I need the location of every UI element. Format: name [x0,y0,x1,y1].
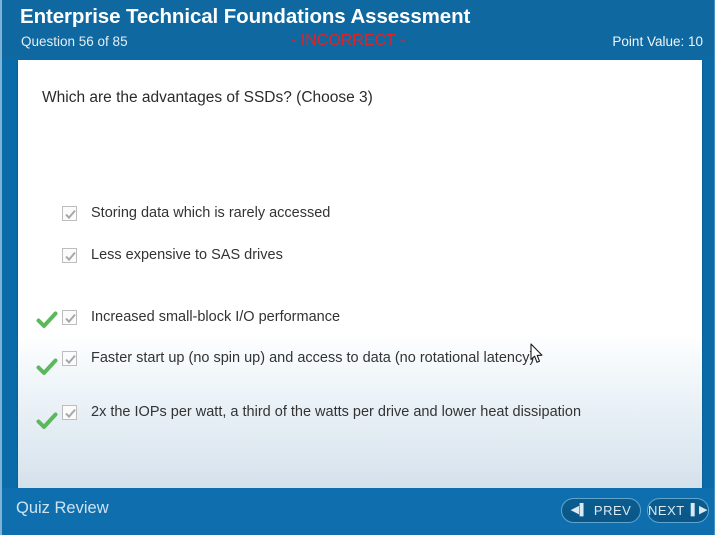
answer-row[interactable]: Storing data which is rarely accessed [18,203,702,229]
answer-checkbox[interactable] [62,351,77,366]
skip-backward-icon: ◀▌ [571,505,588,516]
answer-row[interactable]: 2x the IOPs per watt, a third of the wat… [18,402,702,428]
answer-label: Faster start up (no spin up) and access … [91,348,534,368]
answer-checkbox[interactable] [62,206,77,221]
checkmark-icon [64,407,77,420]
next-button[interactable]: NEXT ▌▶ [647,498,709,523]
answer-label: 2x the IOPs per watt, a third of the wat… [91,402,581,422]
answer-checkbox[interactable] [62,310,77,325]
quiz-application-window: Enterprise Technical Foundations Assessm… [0,0,715,535]
quiz-mode-label: Quiz Review [16,499,109,518]
page-title: Enterprise Technical Foundations Assessm… [20,5,470,29]
answer-checkbox[interactable] [62,405,77,420]
prev-button[interactable]: ◀▌ PREV [561,498,641,523]
answer-row[interactable]: Less expensive to SAS drives [18,245,702,271]
answer-label: Increased small-block I/O performance [91,307,340,327]
answer-row[interactable]: Faster start up (no spin up) and access … [18,348,702,374]
prev-button-label: PREV [594,503,631,518]
answer-label: Storing data which is rarely accessed [91,203,330,223]
correct-answer-check-icon [36,309,58,331]
checkmark-icon [64,208,77,221]
point-value-label: Point Value: 10 [612,34,703,49]
question-content-panel: Which are the advantages of SSDs? (Choos… [18,60,702,488]
quiz-footer-bar: Quiz Review ◀▌ PREV NEXT ▌▶ [2,488,715,535]
question-prompt: Which are the advantages of SSDs? (Choos… [42,89,373,107]
correct-answer-check-icon [36,410,58,432]
skip-forward-icon: ▌▶ [691,505,708,516]
quiz-header-bar: Enterprise Technical Foundations Assessm… [2,0,715,57]
correct-answer-check-icon [36,356,58,378]
checkmark-icon [64,312,77,325]
answer-checkbox[interactable] [62,248,77,263]
question-counter: Question 56 of 85 [21,34,128,49]
next-button-label: NEXT [648,503,685,518]
answer-label: Less expensive to SAS drives [91,245,283,265]
answer-row[interactable]: Increased small-block I/O performance [18,307,702,333]
status-badge: - INCORRECT - [291,32,405,50]
checkmark-icon [64,353,77,366]
checkmark-icon [64,250,77,263]
